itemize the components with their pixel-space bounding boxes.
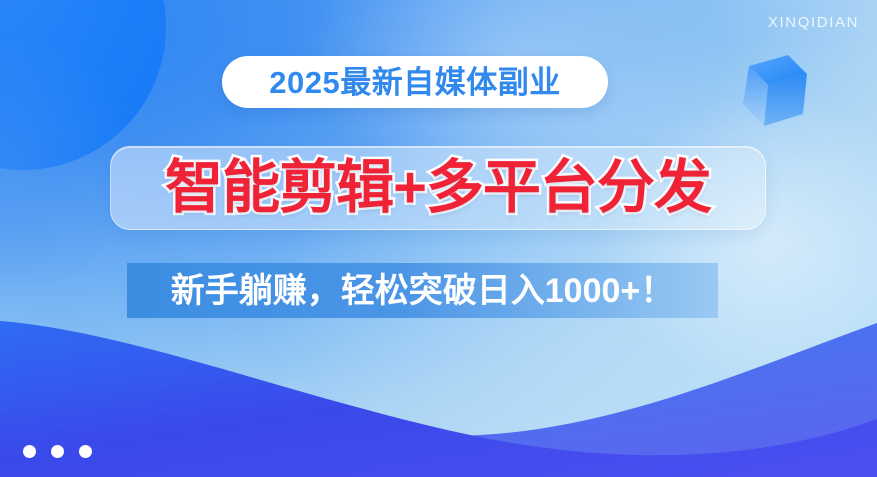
isometric-cube-icon (733, 52, 811, 140)
dot-1-icon (23, 445, 36, 458)
headline-3-container: 新手躺赚，轻松突破日入1000+！ (127, 263, 718, 318)
bottom-dots-indicator (23, 445, 92, 458)
dot-3-icon (79, 445, 92, 458)
headline-3-text: 新手躺赚，轻松突破日入1000+！ (171, 274, 675, 308)
headline-1-text: 2025最新自媒体副业 (269, 67, 560, 98)
headline-1-pill: 2025最新自媒体副业 (222, 56, 608, 108)
watermark-text: XINQIDIAN (768, 14, 859, 31)
headline-2-text: 智能剪辑+多平台分发 (165, 159, 711, 217)
headline-2-container: 智能剪辑+多平台分发 (110, 146, 766, 230)
poster-canvas: XINQIDIAN 2025最新自媒体副业 智能剪辑+多平台分发 新手躺赚，轻松… (0, 0, 877, 477)
dot-2-icon (51, 445, 64, 458)
